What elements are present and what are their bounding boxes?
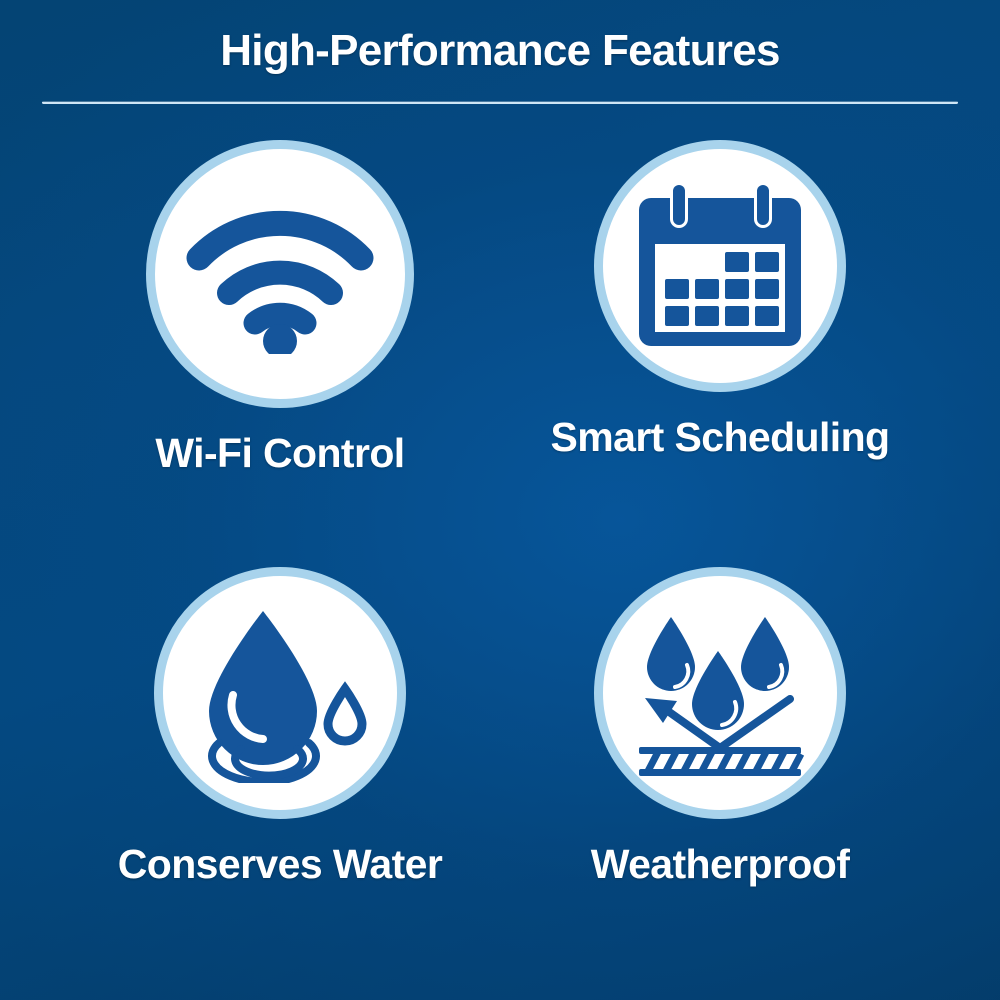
droplet-center: [692, 651, 744, 730]
feature-tile-conserves-water[interactable]: Conserves Water: [60, 543, 500, 958]
feature-grid: Wi-Fi Control: [0, 128, 1000, 958]
feature-tile-weatherproof[interactable]: Weatherproof: [500, 543, 940, 958]
water-repellent-surface-icon: [625, 603, 815, 783]
surface-bar: [639, 747, 801, 776]
feature-label-conserves-water: Conserves Water: [118, 841, 442, 888]
droplet-top-left: [647, 617, 695, 691]
small-droplet: [328, 689, 362, 741]
calendar-icon: [631, 176, 809, 356]
header-divider: [42, 101, 958, 104]
wifi-dot: [263, 324, 297, 354]
feature-poster: High-Performance Features Wi-Fi Control: [0, 0, 1000, 1000]
poster-header: High-Performance Features: [0, 0, 1000, 74]
badge-weatherproof: [594, 567, 846, 819]
badge-calendar: [594, 140, 846, 392]
droplet-top-right: [741, 617, 789, 691]
page-title: High-Performance Features: [0, 28, 1000, 74]
feature-tile-smart-scheduling[interactable]: Smart Scheduling: [500, 128, 940, 543]
feature-label-wifi-control: Wi-Fi Control: [155, 430, 404, 477]
feature-tile-wifi-control[interactable]: Wi-Fi Control: [60, 128, 500, 543]
badge-water-drop: [154, 567, 406, 819]
wifi-icon: [185, 194, 375, 354]
water-drop-ripple-icon: [185, 603, 375, 783]
feature-label-weatherproof: Weatherproof: [591, 841, 850, 888]
feature-label-smart-scheduling: Smart Scheduling: [551, 414, 890, 461]
badge-wifi: [146, 140, 414, 408]
